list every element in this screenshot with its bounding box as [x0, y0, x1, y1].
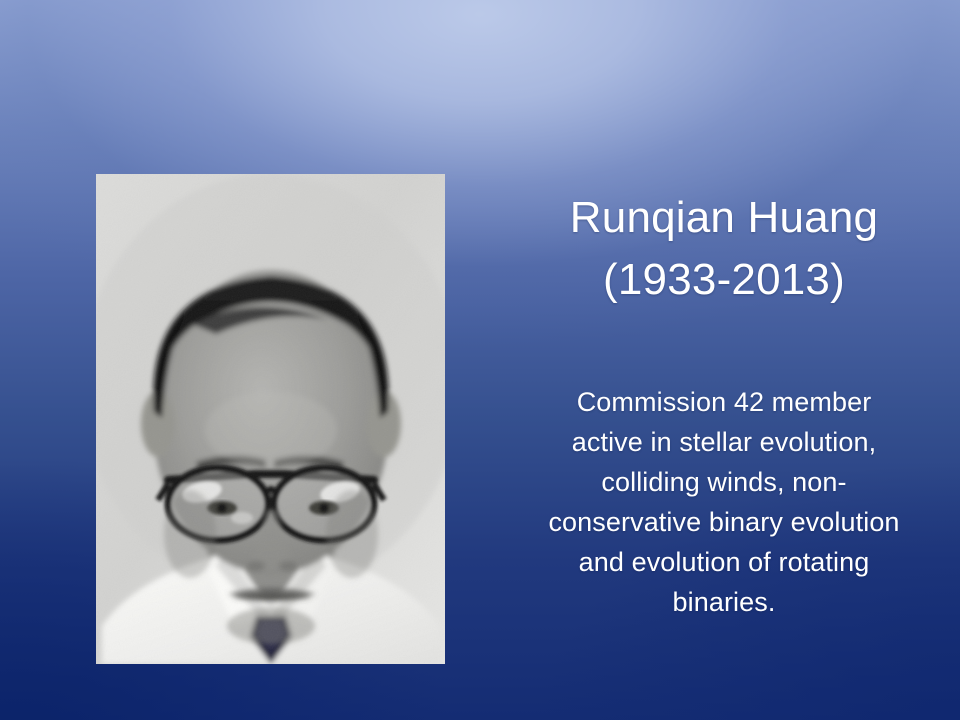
- slide-title: Runqian Huang (1933-2013): [488, 190, 960, 308]
- body-line: colliding winds, non-: [508, 462, 940, 502]
- text-column: Runqian Huang (1933-2013) Commission 42 …: [488, 174, 960, 664]
- portrait-photo: [96, 174, 445, 664]
- body-line: Commission 42 member: [508, 382, 940, 422]
- body-line: and evolution of rotating: [508, 542, 940, 582]
- body-line: binaries.: [508, 582, 940, 622]
- portrait-illustration: [96, 174, 445, 664]
- slide-canvas: Runqian Huang (1933-2013) Commission 42 …: [0, 0, 960, 720]
- slide-body-text: Commission 42 member active in stellar e…: [508, 382, 940, 622]
- body-line: active in stellar evolution,: [508, 422, 940, 462]
- person-life-years: (1933-2013): [488, 252, 960, 308]
- body-line: conservative binary evolution: [508, 502, 940, 542]
- person-name: Runqian Huang: [488, 190, 960, 246]
